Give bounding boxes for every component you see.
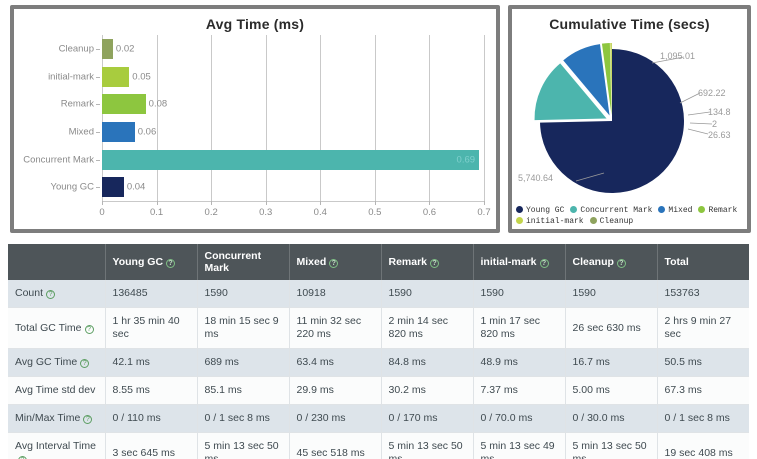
pie-label-remark: 134.8: [708, 107, 731, 117]
table-cell: 0 / 1 sec 8 ms: [657, 405, 749, 433]
gridline: [211, 35, 212, 201]
table-cell: 7.37 ms: [473, 377, 565, 405]
table-row: Avg Interval Time?3 sec 645 ms5 min 13 s…: [8, 433, 749, 459]
pie-plot-area: 1,095.01 692.22 134.8 2 26.63 5,740.64: [512, 33, 747, 203]
table-cell: 2 min 14 sec 820 ms: [381, 308, 473, 349]
x-tick: [429, 201, 430, 205]
gridline: [375, 35, 376, 201]
bar-concurrent-mark: [102, 150, 479, 170]
gridline: [484, 35, 485, 201]
bar-category-label: Concurrent Mark: [23, 154, 94, 165]
bar-value-label: 0.02: [116, 43, 135, 54]
legend-label: Young GC: [526, 206, 564, 215]
x-tick: [320, 201, 321, 205]
row-label: Avg Time std dev: [15, 384, 95, 396]
pie-label-concurrent-mark: 1,095.01: [660, 51, 695, 61]
table-cell: 5 min 13 sec 50 ms: [197, 433, 289, 459]
bar-chart-title: Avg Time (ms): [14, 9, 496, 32]
table-row: Count?136485159010918159015901590153763: [8, 280, 749, 308]
table-header-total: Total: [657, 244, 749, 280]
bar-mixed: [102, 122, 135, 142]
table-cell: 48.9 ms: [473, 349, 565, 377]
x-axis-tick-label: 0.5: [368, 207, 381, 218]
category-tick: [96, 49, 100, 50]
column-label: Concurrent Mark: [205, 250, 262, 274]
table-cell: 1 hr 35 min 40 sec: [105, 308, 197, 349]
x-axis-tick-label: 0.3: [259, 207, 272, 218]
table-cell: 5.00 ms: [565, 377, 657, 405]
x-tick: [484, 201, 485, 205]
column-label: Young GC: [113, 256, 164, 268]
category-tick: [96, 104, 100, 105]
gridline: [429, 35, 430, 201]
bar-value-axis: 00.10.20.30.40.50.60.7: [102, 201, 484, 227]
table-cell: 42.1 ms: [105, 349, 197, 377]
bar-category-label: Remark: [61, 99, 94, 110]
table-cell: 63.4 ms: [289, 349, 381, 377]
table-cell: 1 min 17 sec 820 ms: [473, 308, 565, 349]
table-cell: 84.8 ms: [381, 349, 473, 377]
row-header-min-max-time: Min/Max Time?: [8, 405, 105, 433]
x-tick: [375, 201, 376, 205]
category-tick: [96, 160, 100, 161]
legend-item-mixed[interactable]: Mixed: [658, 205, 692, 216]
bar-category-label: initial-mark: [48, 71, 94, 82]
table-row: Avg Time std dev8.55 ms85.1 ms29.9 ms30.…: [8, 377, 749, 405]
x-axis-tick-label: 0.7: [477, 207, 490, 218]
gridline: [102, 35, 103, 201]
table-cell: 1590: [473, 280, 565, 308]
legend-label: initial-mark: [526, 217, 584, 226]
table-cell: 5 min 13 sec 50 ms: [565, 433, 657, 459]
column-label: Cleanup: [573, 256, 614, 268]
table-row: Total GC Time?1 hr 35 min 40 sec18 min 1…: [8, 308, 749, 349]
table-cell: 19 sec 408 ms: [657, 433, 749, 459]
pie-legend: Young GCConcurrent MarkMixedRemarkinitia…: [516, 205, 745, 227]
table-body: Count?136485159010918159015901590153763T…: [8, 280, 749, 459]
column-label: Mixed: [297, 256, 327, 268]
table-cell: 30.2 ms: [381, 377, 473, 405]
table-cell: 153763: [657, 280, 749, 308]
row-label: Avg GC Time: [15, 356, 77, 368]
avg-time-bar-chart: Avg Time (ms) Cleanupinitial-markRemarkM…: [10, 5, 500, 233]
table-header-cleanup: Cleanup?: [565, 244, 657, 280]
help-icon[interactable]: ?: [80, 359, 89, 368]
legend-color-swatch: [698, 206, 705, 213]
x-tick: [266, 201, 267, 205]
row-label: Count: [15, 287, 43, 299]
table-cell: 5 min 13 sec 50 ms: [381, 433, 473, 459]
table-cell: 0 / 30.0 ms: [565, 405, 657, 433]
legend-item-initial-mark[interactable]: initial-mark: [516, 216, 584, 227]
gridline: [320, 35, 321, 201]
gridline: [157, 35, 158, 201]
table-cell: 29.9 ms: [289, 377, 381, 405]
bar-cleanup: [102, 39, 113, 59]
category-tick: [96, 77, 100, 78]
column-label: Total: [665, 256, 689, 268]
row-label: Min/Max Time: [15, 412, 80, 424]
table-header-young-gc: Young GC?: [105, 244, 197, 280]
table-cell: 5 min 13 sec 49 ms: [473, 433, 565, 459]
pie-label-cleanup: 26.63: [708, 130, 731, 140]
pie-label-young-gc: 5,740.64: [518, 173, 553, 183]
gc-stats-dashboard: Avg Time (ms) Cleanupinitial-markRemarkM…: [0, 0, 757, 459]
pie-label-initial-mark: 2: [712, 119, 717, 129]
table-row: Min/Max Time?0 / 110 ms0 / 1 sec 8 ms0 /…: [8, 405, 749, 433]
table-cell: 3 sec 645 ms: [105, 433, 197, 459]
charts-row: Avg Time (ms) Cleanupinitial-markRemarkM…: [0, 0, 757, 238]
row-label: Total GC Time: [15, 322, 82, 334]
help-icon[interactable]: ?: [166, 259, 175, 268]
legend-item-remark[interactable]: Remark: [698, 205, 737, 216]
table-header-blank: [8, 244, 105, 280]
table-cell: 16.7 ms: [565, 349, 657, 377]
pie-leader-line: [690, 123, 712, 124]
table-cell: 45 sec 518 ms: [289, 433, 381, 459]
legend-color-swatch: [516, 206, 523, 213]
row-header-avg-gc-time: Avg GC Time?: [8, 349, 105, 377]
pie-leader-line: [688, 129, 708, 134]
table-cell: 0 / 1 sec 8 ms: [197, 405, 289, 433]
legend-color-swatch: [590, 217, 597, 224]
bar-category-label: Cleanup: [59, 43, 94, 54]
column-label: initial-mark: [481, 256, 537, 268]
legend-color-swatch: [658, 206, 665, 213]
row-header-avg-time-std-dev: Avg Time std dev: [8, 377, 105, 405]
bar-initial-mark: [102, 67, 129, 87]
axis-line: [102, 201, 484, 202]
help-icon[interactable]: ?: [617, 259, 626, 268]
legend-label: Mixed: [668, 206, 692, 215]
x-tick: [157, 201, 158, 205]
table-cell: 1590: [565, 280, 657, 308]
table-cell: 0 / 170 ms: [381, 405, 473, 433]
table-cell: 689 ms: [197, 349, 289, 377]
x-tick: [102, 201, 103, 205]
x-tick: [211, 201, 212, 205]
table-cell: 0 / 70.0 ms: [473, 405, 565, 433]
bar-series-area: 0.020.050.080.060.690.04: [102, 35, 484, 201]
bar-category-axis: Cleanupinitial-markRemarkMixedConcurrent…: [14, 35, 100, 201]
category-tick: [96, 132, 100, 133]
help-icon[interactable]: ?: [430, 259, 439, 268]
table-cell: 1590: [197, 280, 289, 308]
table-cell: 0 / 230 ms: [289, 405, 381, 433]
help-icon[interactable]: ?: [540, 259, 549, 268]
cumulative-time-pie-chart: Cumulative Time (secs) 1,095.01 692.22 1…: [508, 5, 751, 233]
table-cell: 67.3 ms: [657, 377, 749, 405]
legend-label: Remark: [708, 206, 737, 215]
legend-item-young-gc[interactable]: Young GC: [516, 205, 564, 216]
row-label: Avg Interval Time: [15, 440, 96, 452]
table-cell: 8.55 ms: [105, 377, 197, 405]
table-cell: 1590: [381, 280, 473, 308]
bar-value-label: 0.05: [132, 71, 151, 82]
table-cell: 10918: [289, 280, 381, 308]
table-cell: 18 min 15 sec 9 ms: [197, 308, 289, 349]
pie-leader-line: [688, 112, 710, 115]
table-header-row: Young GC?Concurrent MarkMixed?Remark?ini…: [8, 244, 749, 280]
table-header-mixed: Mixed?: [289, 244, 381, 280]
pie-leader-line: [680, 93, 700, 103]
category-tick: [96, 187, 100, 188]
x-axis-tick-label: 0.6: [423, 207, 436, 218]
table-cell: 0 / 110 ms: [105, 405, 197, 433]
table-cell: 136485: [105, 280, 197, 308]
bar-value-label: 0.69: [457, 154, 476, 165]
bar-category-label: Young GC: [51, 182, 95, 193]
legend-item-concurrent-mark[interactable]: Concurrent Mark: [570, 205, 652, 216]
gc-statistics-table-wrap: Young GC?Concurrent MarkMixed?Remark?ini…: [8, 244, 749, 455]
pie-chart-title: Cumulative Time (secs): [512, 9, 747, 32]
table-header-concurrent-mark: Concurrent Mark: [197, 244, 289, 280]
gc-statistics-table: Young GC?Concurrent MarkMixed?Remark?ini…: [8, 244, 749, 459]
bar-value-label: 0.04: [127, 182, 146, 193]
table-cell: 85.1 ms: [197, 377, 289, 405]
table-cell: 26 sec 630 ms: [565, 308, 657, 349]
x-axis-tick-label: 0.4: [314, 207, 327, 218]
x-axis-tick-label: 0: [99, 207, 104, 218]
help-icon[interactable]: ?: [83, 415, 92, 424]
bar-remark: [102, 94, 146, 114]
legend-label: Cleanup: [600, 217, 634, 226]
help-icon[interactable]: ?: [329, 259, 338, 268]
table-header-remark: Remark?: [381, 244, 473, 280]
x-axis-tick-label: 0.1: [150, 207, 163, 218]
table-row: Avg GC Time?42.1 ms689 ms63.4 ms84.8 ms4…: [8, 349, 749, 377]
table-cell: 50.5 ms: [657, 349, 749, 377]
legend-color-swatch: [516, 217, 523, 224]
bar-category-label: Mixed: [69, 126, 94, 137]
row-header-avg-interval-time: Avg Interval Time?: [8, 433, 105, 459]
bar-plot-area: Cleanupinitial-markRemarkMixedConcurrent…: [14, 35, 496, 229]
row-header-count: Count?: [8, 280, 105, 308]
legend-label: Concurrent Mark: [580, 206, 652, 215]
table-cell: 11 min 32 sec 220 ms: [289, 308, 381, 349]
x-axis-tick-label: 0.2: [205, 207, 218, 218]
legend-item-cleanup[interactable]: Cleanup: [590, 216, 634, 227]
table-header-initial-mark: initial-mark?: [473, 244, 565, 280]
help-icon[interactable]: ?: [46, 290, 55, 299]
gridline: [266, 35, 267, 201]
row-header-total-gc-time: Total GC Time?: [8, 308, 105, 349]
legend-color-swatch: [570, 206, 577, 213]
bar-young-gc: [102, 177, 124, 197]
column-label: Remark: [389, 256, 428, 268]
table-cell: 2 hrs 9 min 27 sec: [657, 308, 749, 349]
bar-value-label: 0.08: [149, 99, 168, 110]
pie-label-mixed: 692.22: [698, 88, 726, 98]
bar-value-label: 0.06: [138, 126, 157, 137]
help-icon[interactable]: ?: [85, 325, 94, 334]
